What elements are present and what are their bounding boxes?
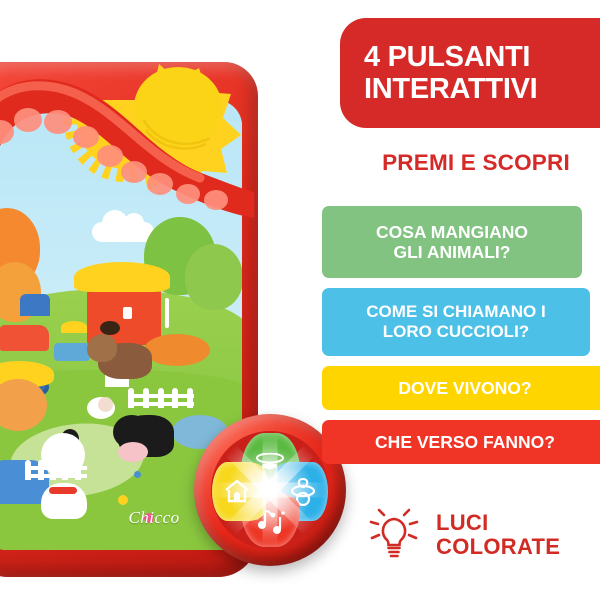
- pill-come-si-chiamano[interactable]: COME SI CHIAMANO I LORO CUCCIOLI?: [322, 288, 590, 356]
- cloud-icon: [92, 222, 154, 242]
- lights-line2: COLORATE: [436, 535, 560, 559]
- subheadline: PREMI E SCOPRI: [344, 150, 600, 176]
- pill-2-line2: LORO CUCCIOLI?: [366, 322, 545, 342]
- pill-cosa-mangiano[interactable]: COSA MANGIANO GLI ANIMALI?: [322, 206, 582, 278]
- hay-icon: [61, 321, 87, 333]
- barn-window: [123, 307, 132, 319]
- tractor-cab: [20, 294, 50, 316]
- headline-line1: 4 PULSANTI: [364, 41, 600, 73]
- flower-icon: [134, 471, 141, 478]
- tractor-icon: [0, 325, 49, 351]
- sheep-head: [98, 397, 113, 412]
- lights-callout-text: LUCI COLORATE: [436, 511, 560, 559]
- headline-line2: INTERATTIVI: [364, 73, 600, 105]
- pad-inner: [211, 431, 329, 549]
- pill-3-line1: DOVE VIVONO?: [398, 378, 531, 398]
- pill-1-line1: COSA MANGIANO: [376, 222, 528, 242]
- pill-1-line2: GLI ANIMALI?: [376, 242, 528, 262]
- barn-house-icon: [222, 477, 252, 505]
- red-arch-handle: [0, 42, 254, 217]
- lights-line1: LUCI: [436, 511, 560, 535]
- fence-icon: [128, 388, 194, 408]
- barn-roof: [74, 262, 170, 292]
- pad-button-left-house[interactable]: [212, 462, 266, 521]
- lightbulb-icon: [366, 505, 422, 565]
- pill-2-line1: COME SI CHIAMANO I: [366, 302, 545, 322]
- product-photo: Chicco: [0, 42, 298, 582]
- horse-head: [87, 334, 117, 362]
- pill-dove-vivono[interactable]: DOVE VIVONO?: [322, 366, 600, 410]
- headline-banner: 4 PULSANTI INTERATTIVI: [340, 18, 600, 128]
- pill-che-verso-fanno[interactable]: CHE VERSO FANNO?: [322, 420, 600, 464]
- cow-muzzle: [118, 442, 148, 462]
- dog-character-icon: [41, 433, 85, 477]
- green-tree-icon: [185, 244, 242, 310]
- pill-4-line1: CHE VERSO FANNO?: [375, 432, 555, 452]
- trailer-icon: [54, 343, 90, 361]
- horse-mane: [100, 321, 120, 335]
- lights-callout: LUCI COLORATE: [366, 500, 600, 570]
- marketing-copy: 4 PULSANTI INTERATTIVI PREMI E SCOPRI CO…: [318, 0, 600, 600]
- screenshot-root: Chicco: [0, 0, 600, 600]
- dog-collar: [49, 487, 77, 494]
- tree-trunk: [165, 298, 169, 328]
- chicco-logo: Chicco: [128, 508, 179, 528]
- vegetable-patch: [144, 334, 210, 366]
